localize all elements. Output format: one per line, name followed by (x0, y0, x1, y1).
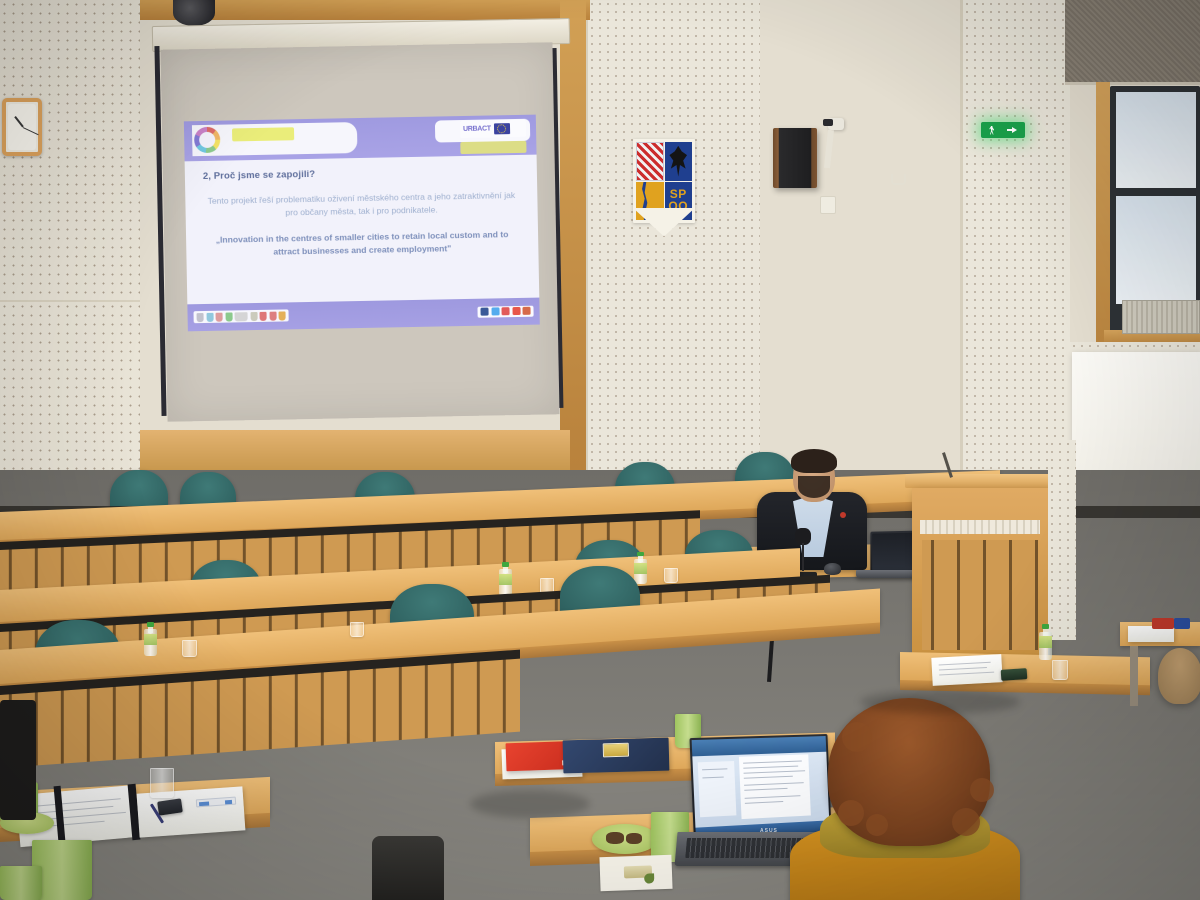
acoustic-panel-center (585, 0, 760, 470)
bottle-cap (637, 552, 644, 556)
podium-perforated-front (922, 540, 1038, 650)
hair-curl-4 (970, 778, 994, 802)
security-camera (828, 118, 844, 130)
laptop-sidebar-pane (698, 761, 736, 818)
slide-title-highlight (232, 127, 294, 141)
presenter-beard (798, 476, 830, 498)
emergency-exit-sign (981, 122, 1025, 138)
red-item-far-right (1152, 618, 1174, 629)
bottle-label (144, 634, 157, 646)
slide-header-band: URBACT (184, 115, 537, 162)
wall-clock (2, 98, 42, 156)
pastry-1 (606, 832, 624, 844)
slide-heading: 2, Proč jsme se zapojili? (203, 165, 519, 182)
rss-icon (501, 307, 509, 315)
hair-curl-3 (952, 808, 980, 836)
urbact-label: URBACT (463, 125, 491, 133)
napkin-with-snack (599, 855, 672, 891)
acoustic-panel-far-right (960, 0, 1070, 470)
crest-7 (260, 312, 267, 321)
bottle-cap (147, 622, 154, 627)
slide-partner-crests (193, 310, 288, 324)
attendee-laptop-screen[interactable] (689, 734, 831, 842)
crest-1 (197, 313, 204, 322)
window-pane-top (1116, 92, 1196, 188)
pastry-plate (592, 824, 658, 854)
running-man-icon (989, 126, 994, 135)
laptop-brand-label: ASUS (760, 828, 778, 834)
clock-face (8, 104, 36, 150)
projection-screen: URBACT 2, Proč jsme se zapojili? Tento p… (150, 22, 570, 442)
wall-switch-plate (820, 196, 836, 214)
clock-minute-hand (22, 126, 38, 134)
chair-front-center (372, 836, 444, 900)
speaker-podium[interactable] (912, 488, 1048, 668)
plain-wall-right (760, 0, 960, 470)
pastry-2 (626, 833, 642, 844)
acoustic-panel-left-lower (0, 300, 140, 475)
clock-hour-hand (14, 116, 23, 127)
slide-social-icons (477, 306, 533, 318)
window-pane-bottom (1116, 196, 1196, 304)
window-jamb (1096, 82, 1110, 342)
coa-quarter-eagle-checky (636, 142, 664, 181)
slide-quote: „Innovation in the centres of smaller ci… (204, 228, 520, 260)
garnish (644, 873, 654, 883)
coa-quarter-silesian-eagle (665, 142, 693, 181)
podium-side-panel (1048, 440, 1076, 640)
ceiling-grey-panel (1065, 0, 1200, 85)
urbact-logo: URBACT (460, 120, 526, 138)
blue-item-far-right (1174, 618, 1190, 629)
bottle-label (499, 574, 512, 586)
handouts-right-mid (931, 654, 1002, 686)
bottle-label (1039, 636, 1052, 648)
far-right-attendee-head (1158, 648, 1200, 704)
desk-far-right-leg (1130, 646, 1138, 706)
projected-slide: URBACT 2, Proč jsme se zapojili? Tento p… (184, 115, 540, 332)
crest-4 (225, 312, 232, 321)
plastic-cup-right-mid (1052, 660, 1068, 680)
instagram-icon (512, 307, 520, 315)
twitter-icon (491, 308, 499, 316)
navy-folder[interactable] (563, 738, 670, 774)
crest-6 (250, 312, 257, 321)
green-cup-left-front-2 (0, 866, 42, 900)
presenter-hair (791, 449, 837, 473)
water-bottle-r3-a (499, 562, 512, 596)
hair-curl-1 (838, 800, 864, 826)
conference-room-scene: URBACT 2, Proč jsme se zapojili? Tento p… (0, 0, 1200, 900)
bottle-cap (1042, 624, 1049, 629)
crest-5 (235, 312, 248, 321)
crest-3 (216, 312, 223, 321)
presenter-mouse[interactable] (824, 563, 841, 575)
radiator (1122, 300, 1200, 334)
screen-surface: URBACT 2, Proč jsme se zapojili? Tento p… (160, 42, 559, 421)
eu-flag-icon (494, 123, 510, 134)
slide-content: URBACT 2, Proč jsme se zapojili? Tento p… (184, 115, 540, 332)
glass-r2-a (182, 640, 197, 657)
water-glass-left (150, 768, 174, 798)
bottle-cap (502, 562, 509, 567)
olomouc-region-coat-of-arms: SP QO (633, 139, 695, 223)
laptop-document-page (739, 754, 811, 819)
microphone-stem (802, 543, 805, 571)
presenter-lapel-pin (840, 512, 846, 518)
stage-back-panel (140, 430, 570, 470)
desk-shadow-center (470, 790, 590, 818)
podium-vent-strip (920, 520, 1040, 534)
wall-hook (891, 174, 906, 185)
podium-top (905, 474, 1053, 488)
slide-paragraph: Tento projekt řeší problematiku oživení … (203, 189, 519, 221)
water-bottle-r3-b (634, 552, 647, 584)
hair-curl-2 (866, 814, 888, 836)
glass-r2-b (350, 622, 364, 637)
bottle-label (634, 563, 647, 574)
water-bottle-r2 (144, 622, 157, 656)
attendee-laptop-display (692, 736, 830, 840)
hair-curl-5 (842, 722, 872, 752)
chair-front-left-back (0, 700, 36, 820)
slide-body: 2, Proč jsme se zapojili? Tento projekt … (185, 154, 540, 304)
youtube-icon (522, 307, 530, 315)
facebook-icon (480, 308, 488, 316)
glass-r3-b (664, 568, 678, 583)
water-bottle-right-mid (1039, 624, 1052, 660)
smartphone-right-mid[interactable] (1001, 668, 1028, 681)
slide-footer-band (187, 297, 539, 331)
navy-folder-badge (603, 743, 629, 758)
arrow-right-icon (1007, 127, 1017, 134)
bottle-neck (638, 555, 644, 562)
crest-9 (279, 311, 286, 320)
crest-2 (206, 313, 213, 322)
wall-speaker (773, 128, 817, 188)
slide-header-yellow-bar (460, 141, 526, 154)
crest-8 (269, 311, 276, 320)
desk-shadow-right (860, 690, 1020, 714)
